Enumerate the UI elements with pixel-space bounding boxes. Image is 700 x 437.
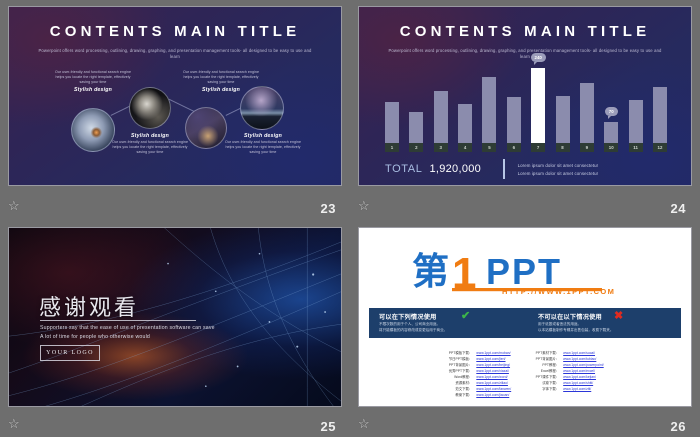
bar-column-5[interactable] (482, 61, 496, 143)
resource-link[interactable]: www.1ppt.com/word/ (476, 375, 507, 379)
total-divider (503, 159, 505, 179)
denied-item-2: 以本站模板制作专辑并出售包装，收费下载夹。 (538, 328, 673, 333)
bar-10[interactable] (604, 122, 618, 143)
resource-link[interactable]: www.1ppt.com/tubiao/ (563, 357, 596, 361)
brand-ppt-glyph: PPT (486, 251, 562, 292)
node-image-2[interactable] (129, 87, 171, 129)
bar-12[interactable] (653, 87, 667, 143)
node-body-3: Our user-friendly and functional search … (182, 70, 260, 86)
thumb-footer-25: ☆ 25 (0, 409, 350, 437)
link-label: 字体下载： (533, 386, 559, 391)
slide-26[interactable]: 第 1 PPT HTTP://WWW.1PPT.COM 可以在下列情况使用 ✔ … (358, 227, 692, 407)
x-tick-1: 1 (385, 143, 399, 152)
bar-3[interactable] (434, 91, 448, 143)
link-label: PPT教程： (533, 362, 559, 367)
x-tick-9: 9 (580, 143, 594, 152)
link-row: PPT模板下载：www.1ppt.com/moban/ (446, 350, 511, 355)
star-icon[interactable]: ☆ (358, 199, 372, 213)
slide-25[interactable]: 感谢观看 Supporters say that the ease of use… (8, 227, 342, 407)
x-tick-4: 4 (458, 143, 472, 152)
link-row: 优秀PPT下载：www.1ppt.com/xiazai/ (446, 368, 511, 373)
cross-icon: ✖ (614, 311, 623, 322)
bar-1[interactable] (385, 102, 399, 143)
link-row: 范文下载：www.1ppt.com/fanwen/ (446, 386, 511, 391)
check-icon: ✔ (461, 311, 470, 322)
x-tick-8: 8 (556, 143, 570, 152)
bar-5[interactable] (482, 77, 496, 143)
node-text-3: Our user-friendly and functional search … (182, 69, 260, 93)
node-head-1: Stylish design (54, 87, 132, 93)
link-row: Word教程：www.1ppt.com/word/ (446, 374, 511, 379)
node-image-3[interactable] (185, 107, 227, 149)
first-ppt-logo-icon: 第 1 PPT HTTP://WWW.1PPT.COM (410, 248, 640, 296)
bar-column-8[interactable] (556, 61, 570, 143)
bar-11[interactable] (629, 100, 643, 143)
slide-23[interactable]: CONTENTS MAIN TITLE Powerpoint offers wo… (8, 6, 342, 186)
total-label: TOTAL (385, 163, 422, 175)
link-label: PPT课件下载： (533, 374, 559, 379)
resource-link[interactable]: www.1ppt.com/shiti/ (563, 381, 593, 385)
node-text-1: Our user-friendly and functional search … (54, 69, 132, 93)
bar-column-9[interactable] (580, 61, 594, 143)
node-head-4: Stylish design (224, 133, 302, 139)
x-tick-3: 3 (434, 143, 448, 152)
slide-25-title-cn: 感谢观看 (39, 290, 139, 322)
slide-25-subtitle: Supporters say that the ease of use of p… (40, 324, 215, 342)
slide-24[interactable]: CONTENTS MAIN TITLE Powerpoint offers wo… (358, 6, 692, 186)
resource-link[interactable]: www.1ppt.com/beijing/ (476, 363, 510, 367)
link-label: Excel教程： (533, 368, 559, 373)
bar-4[interactable] (458, 104, 472, 143)
thumb-footer-26: ☆ 26 (350, 409, 700, 437)
denied-item-1: 用于诋毁或者违法的用途。 (538, 322, 673, 327)
slide-23-subtitle: Powerpoint offers word processing, outli… (35, 48, 315, 60)
node-head-2: Stylish design (111, 133, 189, 139)
bar-6[interactable] (507, 97, 521, 143)
slide-thumbnail-grid: CONTENTS MAIN TITLE Powerpoint offers wo… (0, 0, 700, 437)
allowed-item-2: 将只能模板的内容修改或变更后用于商业。 (379, 328, 514, 333)
bar-series: 24070 (385, 61, 667, 143)
slide-cell-25[interactable]: 感谢观看 Supporters say that the ease of use… (0, 219, 350, 437)
slide-cell-23[interactable]: CONTENTS MAIN TITLE Powerpoint offers wo… (0, 0, 350, 219)
page-number-26: 26 (671, 419, 686, 434)
denied-heading: 不可以在以下情况使用 (538, 312, 673, 321)
bar-tooltip-7: 240 (531, 53, 546, 62)
x-tick-7: 7 (531, 143, 545, 152)
slide-23-title: CONTENTS MAIN TITLE (9, 23, 341, 40)
link-label: Word教程： (446, 374, 472, 379)
bar-column-11[interactable] (629, 61, 643, 143)
x-tick-12: 12 (653, 143, 667, 152)
star-icon[interactable]: ☆ (8, 417, 22, 431)
resource-link[interactable]: www.1ppt.com/excel/ (563, 369, 595, 373)
brand-logo: 第 1 PPT HTTP://WWW.1PPT.COM (359, 248, 691, 301)
slide-24-title: CONTENTS MAIN TITLE (359, 23, 691, 40)
star-icon[interactable]: ☆ (358, 417, 372, 431)
slide-cell-24[interactable]: CONTENTS MAIN TITLE Powerpoint offers wo… (350, 0, 700, 219)
bar-tooltip-10: 70 (605, 107, 618, 116)
resource-link[interactable]: www.1ppt.com/ziliao/ (476, 381, 508, 385)
thumb-footer-24: ☆ 24 (350, 191, 700, 219)
link-row: PPT背景图片：www.1ppt.com/beijing/ (446, 362, 511, 367)
link-row: 字体下载：www.1ppt.com/ziti/ (533, 386, 604, 391)
bar-column-4[interactable] (458, 61, 472, 143)
link-row: Excel教程：www.1ppt.com/excel/ (533, 368, 604, 373)
node-image-1[interactable] (71, 108, 115, 152)
link-label: PPT模板下载： (446, 350, 472, 355)
bar-chart-x-axis: 123456789101112 (385, 143, 667, 152)
bar-7[interactable] (531, 68, 545, 143)
bar-column-2[interactable] (409, 61, 423, 143)
star-icon[interactable]: ☆ (8, 199, 22, 213)
allowed-heading: 可以在下列情况使用 (379, 312, 514, 321)
total-row: TOTAL 1,920,000 Lorem ipsum dolor sit am… (385, 159, 685, 179)
bar-column-7[interactable]: 240 (531, 61, 545, 143)
total-note-2: Lorem ipsum dolor sit amet consectetur (518, 171, 599, 176)
link-label: 范文下载： (446, 386, 472, 391)
link-row: PPT教程：www.1ppt.com/powerpoint/ (533, 362, 604, 367)
page-number-25: 25 (321, 419, 336, 434)
link-row: 试卷下载：www.1ppt.com/shiti/ (533, 380, 604, 385)
link-label: 节日PPT模板： (446, 356, 472, 361)
resource-link[interactable]: www.1ppt.com/powerpoint/ (563, 363, 604, 367)
resource-link[interactable]: www.1ppt.com/jiaoan/ (476, 393, 509, 397)
resource-link[interactable]: www.1ppt.com/jieri/ (476, 357, 505, 361)
brand-cn-glyph: 第 (412, 250, 449, 293)
bar-column-6[interactable] (507, 61, 521, 143)
page-number-24: 24 (671, 201, 686, 216)
resource-link[interactable]: www.1ppt.com/moban/ (476, 351, 510, 355)
allowed-item-1: 不限次数的用于个人、公司商业用途。 (379, 322, 514, 327)
resource-link[interactable]: www.1ppt.com/kejian/ (563, 375, 596, 379)
slide-cell-26[interactable]: 第 1 PPT HTTP://WWW.1PPT.COM 可以在下列情况使用 ✔ … (350, 219, 700, 437)
link-row: PPT课件下载：www.1ppt.com/kejian/ (533, 374, 604, 379)
link-label: PPT背景图片： (446, 362, 472, 367)
x-tick-6: 6 (507, 143, 521, 152)
allowed-usage-column: 可以在下列情况使用 ✔ 不限次数的用于个人、公司商业用途。 将只能模板的内容修改… (369, 308, 522, 338)
link-label: PPT背景图片： (533, 356, 559, 361)
your-logo-button[interactable]: YOUR LOGO (40, 345, 100, 361)
resource-link[interactable]: www.1ppt.com/fanwen/ (476, 387, 511, 391)
node-body-2: Our user-friendly and functional search … (111, 140, 189, 156)
node-body-1: Our user-friendly and functional search … (54, 70, 132, 86)
denied-usage-column: 不可以在以下情况使用 ✖ 用于诋毁或者违法的用途。 以本站模板制作专辑并出售包装… (522, 308, 681, 338)
node-body-4: Our user-friendly and functional search … (224, 140, 302, 156)
node-head-3: Stylish design (182, 87, 260, 93)
bar-8[interactable] (556, 96, 570, 143)
link-label: PPT素材下载： (533, 350, 559, 355)
link-label: 试卷下载： (533, 380, 559, 385)
brand-url-glyph: HTTP://WWW.1PPT.COM (502, 287, 615, 296)
resource-link[interactable]: www.1ppt.com/ziti/ (563, 387, 591, 391)
link-row: 教案下载：www.1ppt.com/jiaoan/ (446, 392, 511, 397)
bar-column-12[interactable] (653, 61, 667, 143)
link-row: PPT背景图片：www.1ppt.com/tubiao/ (533, 356, 604, 361)
node-text-4: Stylish design Our user-friendly and fun… (224, 133, 302, 157)
total-value: 1,920,000 (429, 163, 481, 175)
bar-2[interactable] (409, 112, 423, 143)
node-text-2: Stylish design Our user-friendly and fun… (111, 133, 189, 157)
usage-terms-band: 可以在下列情况使用 ✔ 不限次数的用于个人、公司商业用途。 将只能模板的内容修改… (369, 308, 681, 338)
bar-chart: 24070 (385, 55, 667, 143)
x-tick-5: 5 (482, 143, 496, 152)
bar-9[interactable] (580, 83, 594, 143)
x-tick-11: 11 (629, 143, 643, 152)
link-label: 教案下载： (446, 392, 472, 397)
total-note-1: Lorem ipsum dolor sit amet consectetur (518, 163, 599, 168)
page-number-23: 23 (321, 201, 336, 216)
bar-column-10[interactable]: 70 (604, 61, 618, 143)
resource-link[interactable]: www.1ppt.com/xiazai/ (476, 369, 509, 373)
link-row: 资源素材：www.1ppt.com/ziliao/ (446, 380, 511, 385)
link-column-2: PPT素材下载：www.1ppt.com/sucai/PPT背景图片：www.1… (533, 350, 604, 397)
resource-link[interactable]: www.1ppt.com/sucai/ (563, 351, 595, 355)
link-label: 优秀PPT下载： (446, 368, 472, 373)
link-row: PPT素材下载：www.1ppt.com/sucai/ (533, 350, 604, 355)
bar-column-1[interactable] (385, 61, 399, 143)
x-tick-2: 2 (409, 143, 423, 152)
bar-column-3[interactable] (434, 61, 448, 143)
x-tick-10: 10 (604, 143, 618, 152)
thumb-footer-23: ☆ 23 (0, 191, 350, 219)
total-notes: Lorem ipsum dolor sit amet consectetur L… (518, 163, 599, 176)
link-column-1: PPT模板下载：www.1ppt.com/moban/节日PPT模板：www.1… (446, 350, 511, 397)
link-row: 节日PPT模板：www.1ppt.com/jieri/ (446, 356, 511, 361)
resource-link-columns: PPT模板下载：www.1ppt.com/moban/节日PPT模板：www.1… (359, 350, 691, 397)
link-label: 资源素材： (446, 380, 472, 385)
title-underline (40, 320, 196, 321)
